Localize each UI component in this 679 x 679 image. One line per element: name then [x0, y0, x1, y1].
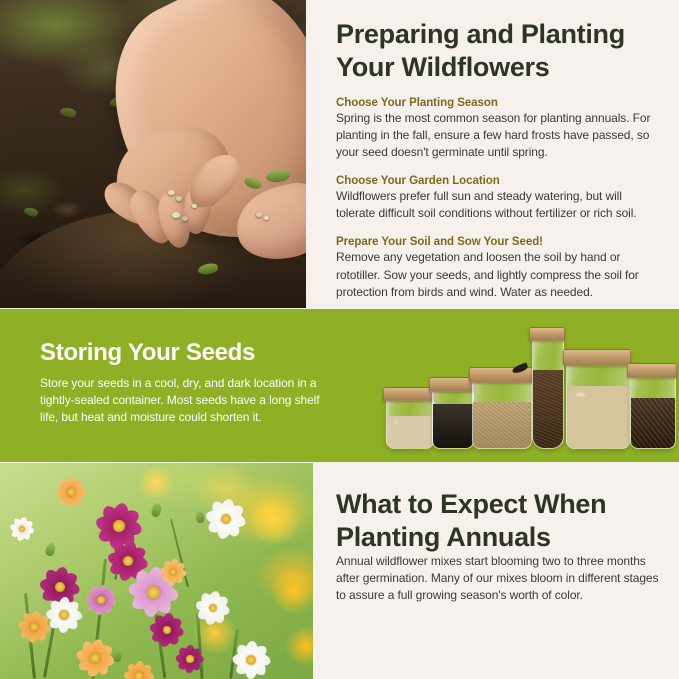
seed-icon — [176, 196, 182, 201]
cork-lid-icon — [563, 349, 631, 366]
cosmos-bloom — [206, 499, 246, 539]
block-garden-location: Choose Your Garden Location Wildflowers … — [336, 175, 662, 222]
seed-icon — [182, 216, 188, 221]
section-what-to-expect: What to Expect When Planting Annuals Ann… — [0, 463, 679, 679]
jar-glass — [472, 379, 532, 449]
cosmos-bloom — [46, 597, 82, 633]
block-planting-season: Choose Your Planting Season Spring is th… — [336, 97, 662, 161]
jar-glass — [386, 395, 434, 449]
cosmos-bloom — [150, 613, 184, 647]
storing-heading: Storing Your Seeds — [40, 339, 330, 367]
subheading-garden-location: Choose Your Garden Location — [336, 175, 662, 187]
cosmos-bloom — [196, 591, 230, 625]
photo-cosmos-wildflowers — [0, 463, 313, 679]
jar-pale-beans — [386, 387, 432, 449]
jar-black-seeds — [432, 377, 472, 449]
cork-lid-icon — [627, 363, 677, 378]
jar-contents — [533, 370, 563, 448]
flower-center — [97, 596, 105, 604]
jar-sunflower-seeds — [630, 363, 674, 449]
storing-body: Store your seeds in a cool, dry, and dar… — [40, 375, 330, 426]
seed-icon — [192, 204, 197, 208]
cork-lid-icon — [529, 327, 565, 341]
cosmos-bloom — [86, 585, 116, 615]
jar-contents — [433, 404, 473, 448]
flower-center — [113, 520, 125, 532]
expect-body: Annual wildflower mixes start blooming t… — [336, 553, 662, 604]
body-planting-season: Spring is the most common season for pla… — [336, 110, 662, 161]
preparing-heading: Preparing and Planting Your Wildflowers — [336, 0, 662, 83]
preparing-text-column: Preparing and Planting Your Wildflowers … — [336, 0, 662, 308]
subheading-planting-season: Choose Your Planting Season — [336, 97, 662, 109]
body-prepare-soil: Remove any vegetation and loosen the soi… — [336, 249, 662, 300]
jar-glass — [532, 339, 564, 449]
cork-lid-icon — [383, 387, 435, 401]
jar-contents — [473, 402, 531, 448]
seed-icon — [168, 190, 175, 195]
seed-icon — [172, 212, 180, 218]
subheading-prepare-soil: Prepare Your Soil and Sow Your Seed! — [336, 236, 662, 248]
cosmos-bloom — [232, 641, 270, 679]
storing-text-column: Storing Your Seeds Store your seeds in a… — [40, 339, 330, 426]
cosmos-bloom — [56, 477, 86, 507]
bloom-layer — [0, 463, 313, 679]
photo-hand-sowing-seeds — [0, 0, 306, 308]
wildflower-planting-infographic: Preparing and Planting Your Wildflowers … — [0, 0, 679, 679]
seed-icon — [256, 212, 262, 217]
photo-seed-jars — [380, 317, 665, 457]
flower-center — [90, 653, 100, 663]
block-prepare-soil: Prepare Your Soil and Sow Your Seed! Rem… — [336, 236, 662, 300]
jar-glass — [630, 373, 676, 449]
flower-center — [135, 672, 143, 679]
jar-tan-grain — [472, 367, 530, 449]
cosmos-bloom — [10, 517, 34, 541]
body-garden-location: Wildflowers prefer full sun and steady w… — [336, 188, 662, 222]
flower-center — [147, 586, 160, 599]
seed-icon — [264, 216, 269, 220]
expect-text-column: What to Expect When Planting Annuals Ann… — [336, 463, 662, 679]
cosmos-bloom — [176, 645, 204, 673]
jar-contents — [387, 416, 433, 448]
flower-center — [246, 655, 256, 665]
jar-tall-tube — [532, 327, 562, 449]
jar-large-pumpkin-seeds — [566, 349, 628, 449]
cosmos-bloom — [76, 639, 114, 677]
flower-center — [59, 610, 68, 619]
flower-center — [186, 655, 193, 662]
jar-contents — [631, 398, 675, 448]
section-preparing-and-planting: Preparing and Planting Your Wildflowers … — [0, 0, 679, 308]
jar-glass — [432, 387, 474, 449]
cosmos-bloom — [124, 661, 154, 679]
jar-glass — [566, 361, 630, 449]
expect-heading: What to Expect When Planting Annuals — [336, 463, 662, 553]
cosmos-bloom — [160, 559, 186, 585]
section-storing-your-seeds: Storing Your Seeds Store your seeds in a… — [0, 309, 679, 462]
flower-center — [67, 488, 75, 496]
cosmos-bloom — [18, 611, 50, 643]
jar-contents — [567, 386, 629, 448]
